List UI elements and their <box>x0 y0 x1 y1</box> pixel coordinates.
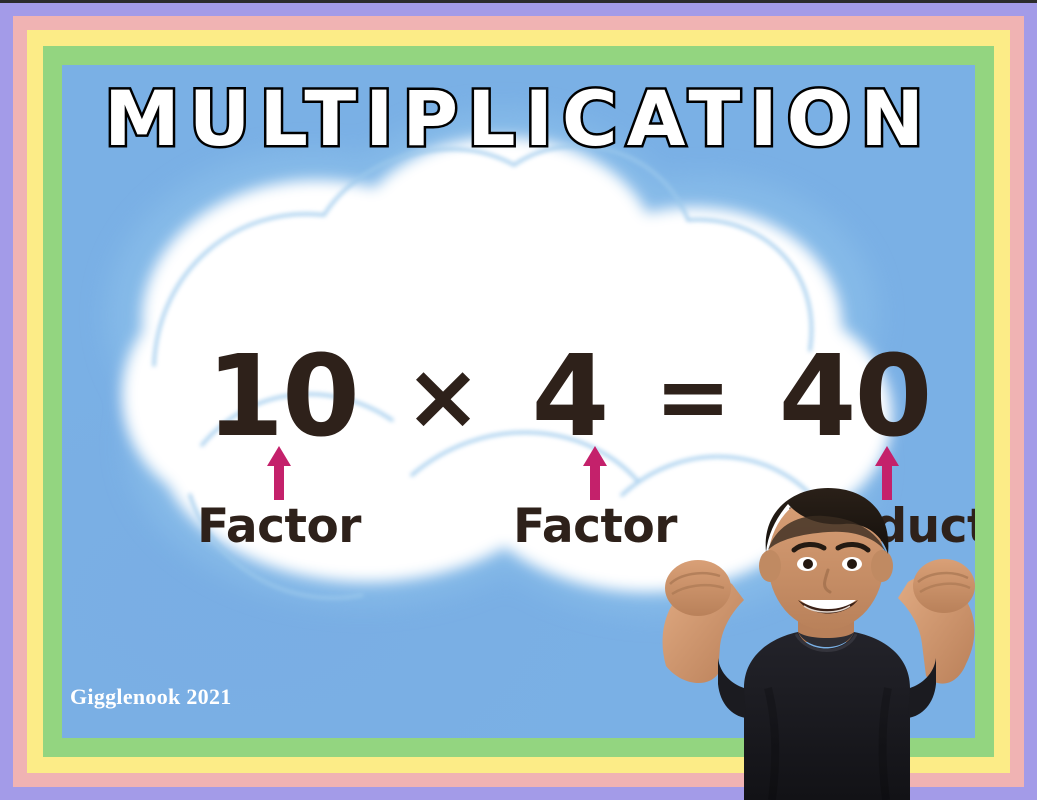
equation-row: 10 × 4 = 40 <box>182 337 972 457</box>
annotation-factor1: Factor <box>174 445 384 550</box>
annotation-product: Product <box>782 445 975 550</box>
multiplication-sign-icon: × <box>382 351 502 443</box>
up-arrow-icon <box>266 445 292 501</box>
up-arrow-icon <box>874 445 900 501</box>
watermark-credit: Gigglenook 2021 <box>70 684 232 710</box>
equation-factor2: 4 <box>502 341 637 453</box>
multiplication-poster: MULTIPLICATION 10 × 4 = 40 Factor Factor <box>0 0 1037 800</box>
equals-sign-icon: = <box>637 351 747 443</box>
equation-product: 40 <box>747 341 962 453</box>
equation-factor1: 10 <box>182 341 382 453</box>
annotation-factor2: Factor <box>490 445 700 550</box>
annotation-label: Factor <box>197 503 361 550</box>
poster-content-area: MULTIPLICATION 10 × 4 = 40 Factor Factor <box>62 65 975 738</box>
annotation-label: Product <box>785 503 975 550</box>
page-title: MULTIPLICATION <box>62 81 975 157</box>
up-arrow-icon <box>582 445 608 501</box>
annotation-label: Factor <box>513 503 677 550</box>
